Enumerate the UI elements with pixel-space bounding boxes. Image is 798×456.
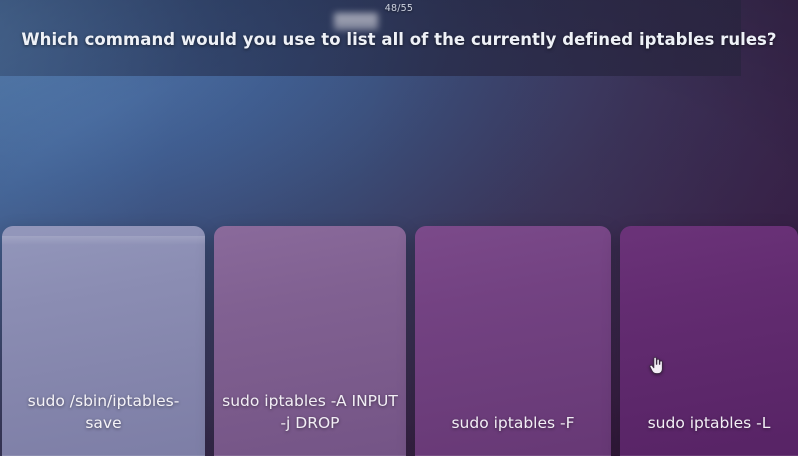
answer-option-c-label: sudo iptables -F	[415, 413, 611, 434]
answer-options-list: sudo /sbin/iptables-save sudo iptables -…	[0, 226, 798, 456]
blurred-redaction-overlay	[334, 13, 378, 30]
answer-option-b-label: sudo iptables -A INPUT -j DROP	[214, 391, 406, 434]
answer-option-c[interactable]: sudo iptables -F	[415, 226, 611, 456]
answer-option-b[interactable]: sudo iptables -A INPUT -j DROP	[214, 226, 406, 456]
progress-counter: 48/55	[0, 3, 798, 14]
answer-option-a[interactable]: sudo /sbin/iptables-save	[2, 226, 205, 456]
question-text: Which command would you use to list all …	[0, 30, 798, 49]
answer-option-d[interactable]: sudo iptables -L	[620, 226, 798, 456]
answer-option-a-label: sudo /sbin/iptables-save	[2, 391, 205, 434]
answer-option-d-label: sudo iptables -L	[620, 413, 798, 434]
card-glare	[2, 236, 205, 245]
quiz-screen: 48/55 Which command would you use to lis…	[0, 0, 798, 456]
